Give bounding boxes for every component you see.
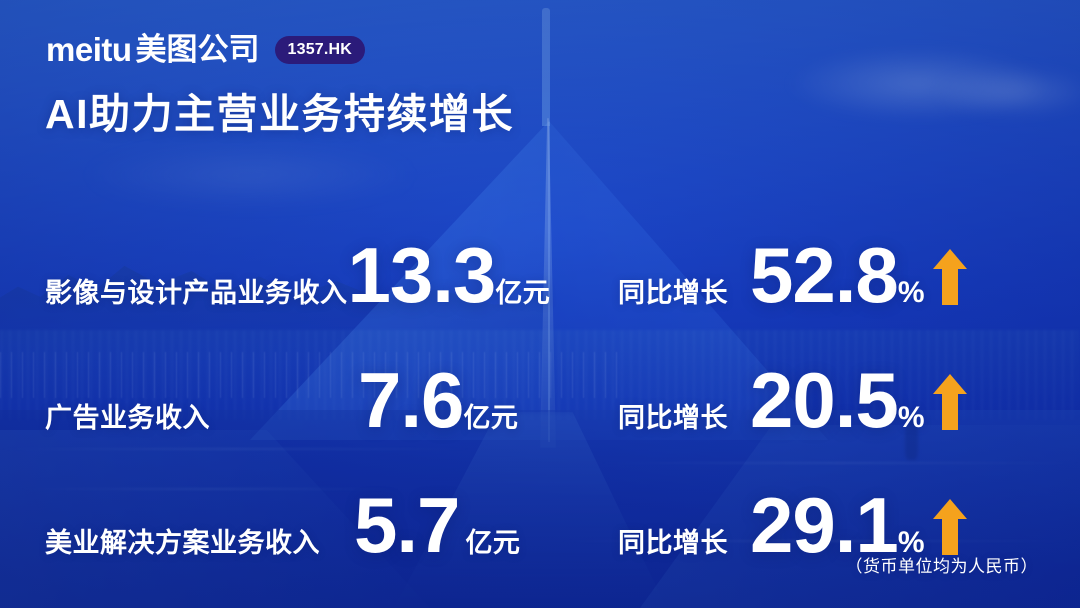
growth-value: 20.5 bbox=[750, 369, 898, 433]
arrow-up-icon bbox=[933, 374, 967, 430]
stat-revenue-cell: 广告业务收入 7.6 亿元 bbox=[45, 369, 518, 433]
stat-label: 广告业务收入 bbox=[45, 405, 210, 432]
stat-revenue-cell: 美业解决方案业务收入 5.7 亿元 bbox=[45, 494, 520, 558]
stat-value: 5.7 bbox=[354, 494, 459, 558]
stat-unit: 亿元 bbox=[465, 530, 520, 557]
meitu-logo-latin: meitu bbox=[46, 33, 132, 66]
stat-label: 美业解决方案业务收入 bbox=[45, 530, 320, 557]
growth-label: 同比增长 bbox=[618, 405, 728, 432]
stat-label: 影像与设计产品业务收入 bbox=[45, 280, 348, 307]
presentation-slide: meitu 美图公司 1357.HK AI助力主营业务持续增长 影像与设计产品业… bbox=[0, 0, 1080, 608]
growth-unit: % bbox=[898, 403, 925, 433]
stat-growth-cell: 同比增长 29.1 % bbox=[618, 494, 967, 558]
stat-unit: 亿元 bbox=[463, 405, 518, 432]
growth-value: 29.1 bbox=[750, 494, 898, 558]
growth-value: 52.8 bbox=[750, 244, 898, 308]
ticker-badge: 1357.HK bbox=[275, 36, 366, 64]
growth-label: 同比增长 bbox=[618, 280, 728, 307]
meitu-logo-chinese: 美图公司 bbox=[136, 34, 260, 65]
arrow-up-icon bbox=[933, 249, 967, 305]
stat-growth-cell: 同比增长 20.5 % bbox=[618, 369, 967, 433]
page-title: AI助力主营业务持续增长 bbox=[45, 92, 514, 137]
growth-unit: % bbox=[898, 528, 925, 558]
growth-label: 同比增长 bbox=[618, 530, 728, 557]
brand-lockup: meitu 美图公司 1357.HK bbox=[46, 33, 365, 66]
stat-value: 13.3 bbox=[348, 244, 496, 308]
stat-row: 美业解决方案业务收入 5.7 亿元 同比增长 29.1 % bbox=[0, 433, 1080, 558]
stats-list: 影像与设计产品业务收入 13.3 亿元 同比增长 52.8 % bbox=[0, 183, 1080, 558]
stat-value: 7.6 bbox=[358, 369, 463, 433]
stat-growth-cell: 同比增长 52.8 % bbox=[618, 244, 967, 308]
growth-unit: % bbox=[898, 278, 925, 308]
slide-content: meitu 美图公司 1357.HK AI助力主营业务持续增长 影像与设计产品业… bbox=[0, 0, 1080, 608]
arrow-up-icon bbox=[933, 499, 967, 555]
stat-revenue-cell: 影像与设计产品业务收入 13.3 亿元 bbox=[45, 244, 550, 308]
stat-unit: 亿元 bbox=[495, 280, 550, 307]
currency-footnote: （货币单位均为人民币） bbox=[846, 558, 1039, 575]
stat-row: 影像与设计产品业务收入 13.3 亿元 同比增长 52.8 % bbox=[0, 183, 1080, 308]
stat-row: 广告业务收入 7.6 亿元 同比增长 20.5 % bbox=[0, 308, 1080, 433]
